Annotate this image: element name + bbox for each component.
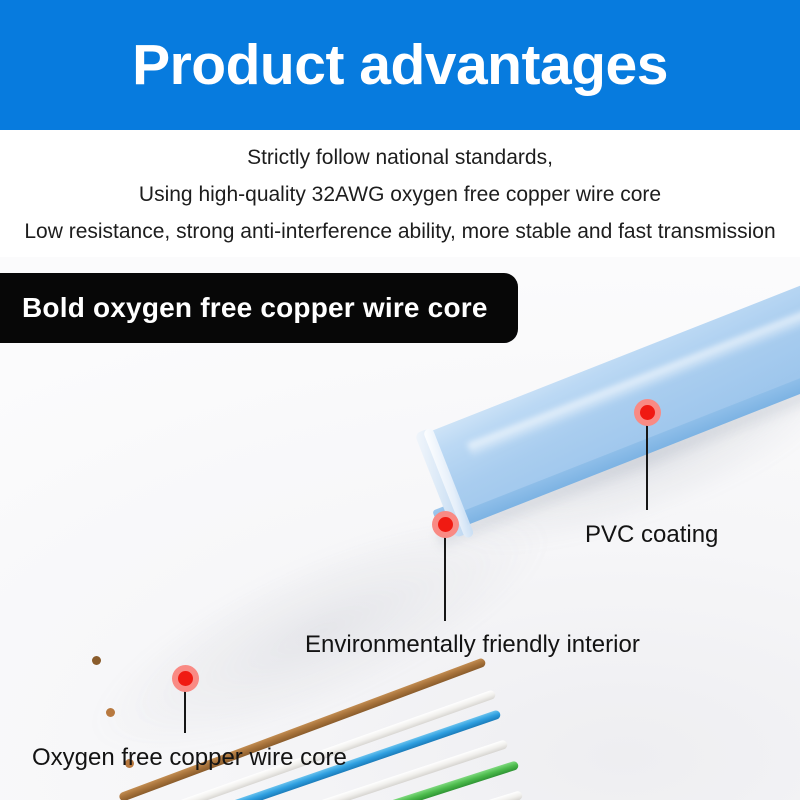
- callout-marker-pvc[interactable]: [634, 399, 661, 426]
- callout-label-interior: Environmentally friendly interior: [305, 633, 640, 657]
- callout-label-core: Oxygen free copper wire core: [32, 746, 347, 770]
- subtitle-block: Strictly follow national standards, Usin…: [0, 132, 800, 257]
- header-banner: Product advantages: [0, 0, 800, 130]
- callout-leader-line-pvc: [646, 417, 648, 510]
- callout-leader-line-core: [184, 691, 186, 733]
- product-advantages-banner-image: Product advantages Strictly follow natio…: [0, 0, 800, 800]
- page-title: Product advantages: [132, 37, 668, 94]
- callout-leader-line-interior: [444, 537, 446, 621]
- subtitle-line-2: Using high-quality 32AWG oxygen free cop…: [139, 176, 661, 213]
- feature-chip: Bold oxygen free copper wire core: [0, 273, 518, 343]
- callout-marker-interior[interactable]: [432, 511, 459, 538]
- product-photo: Bold oxygen free copper wire core PVC co…: [0, 257, 800, 800]
- subtitle-line-3: Low resistance, strong anti-interference…: [24, 213, 775, 250]
- callout-label-pvc: PVC coating: [585, 523, 718, 547]
- subtitle-line-1: Strictly follow national standards,: [247, 139, 553, 176]
- callout-marker-core[interactable]: [172, 665, 199, 692]
- feature-chip-label: Bold oxygen free copper wire core: [22, 292, 488, 324]
